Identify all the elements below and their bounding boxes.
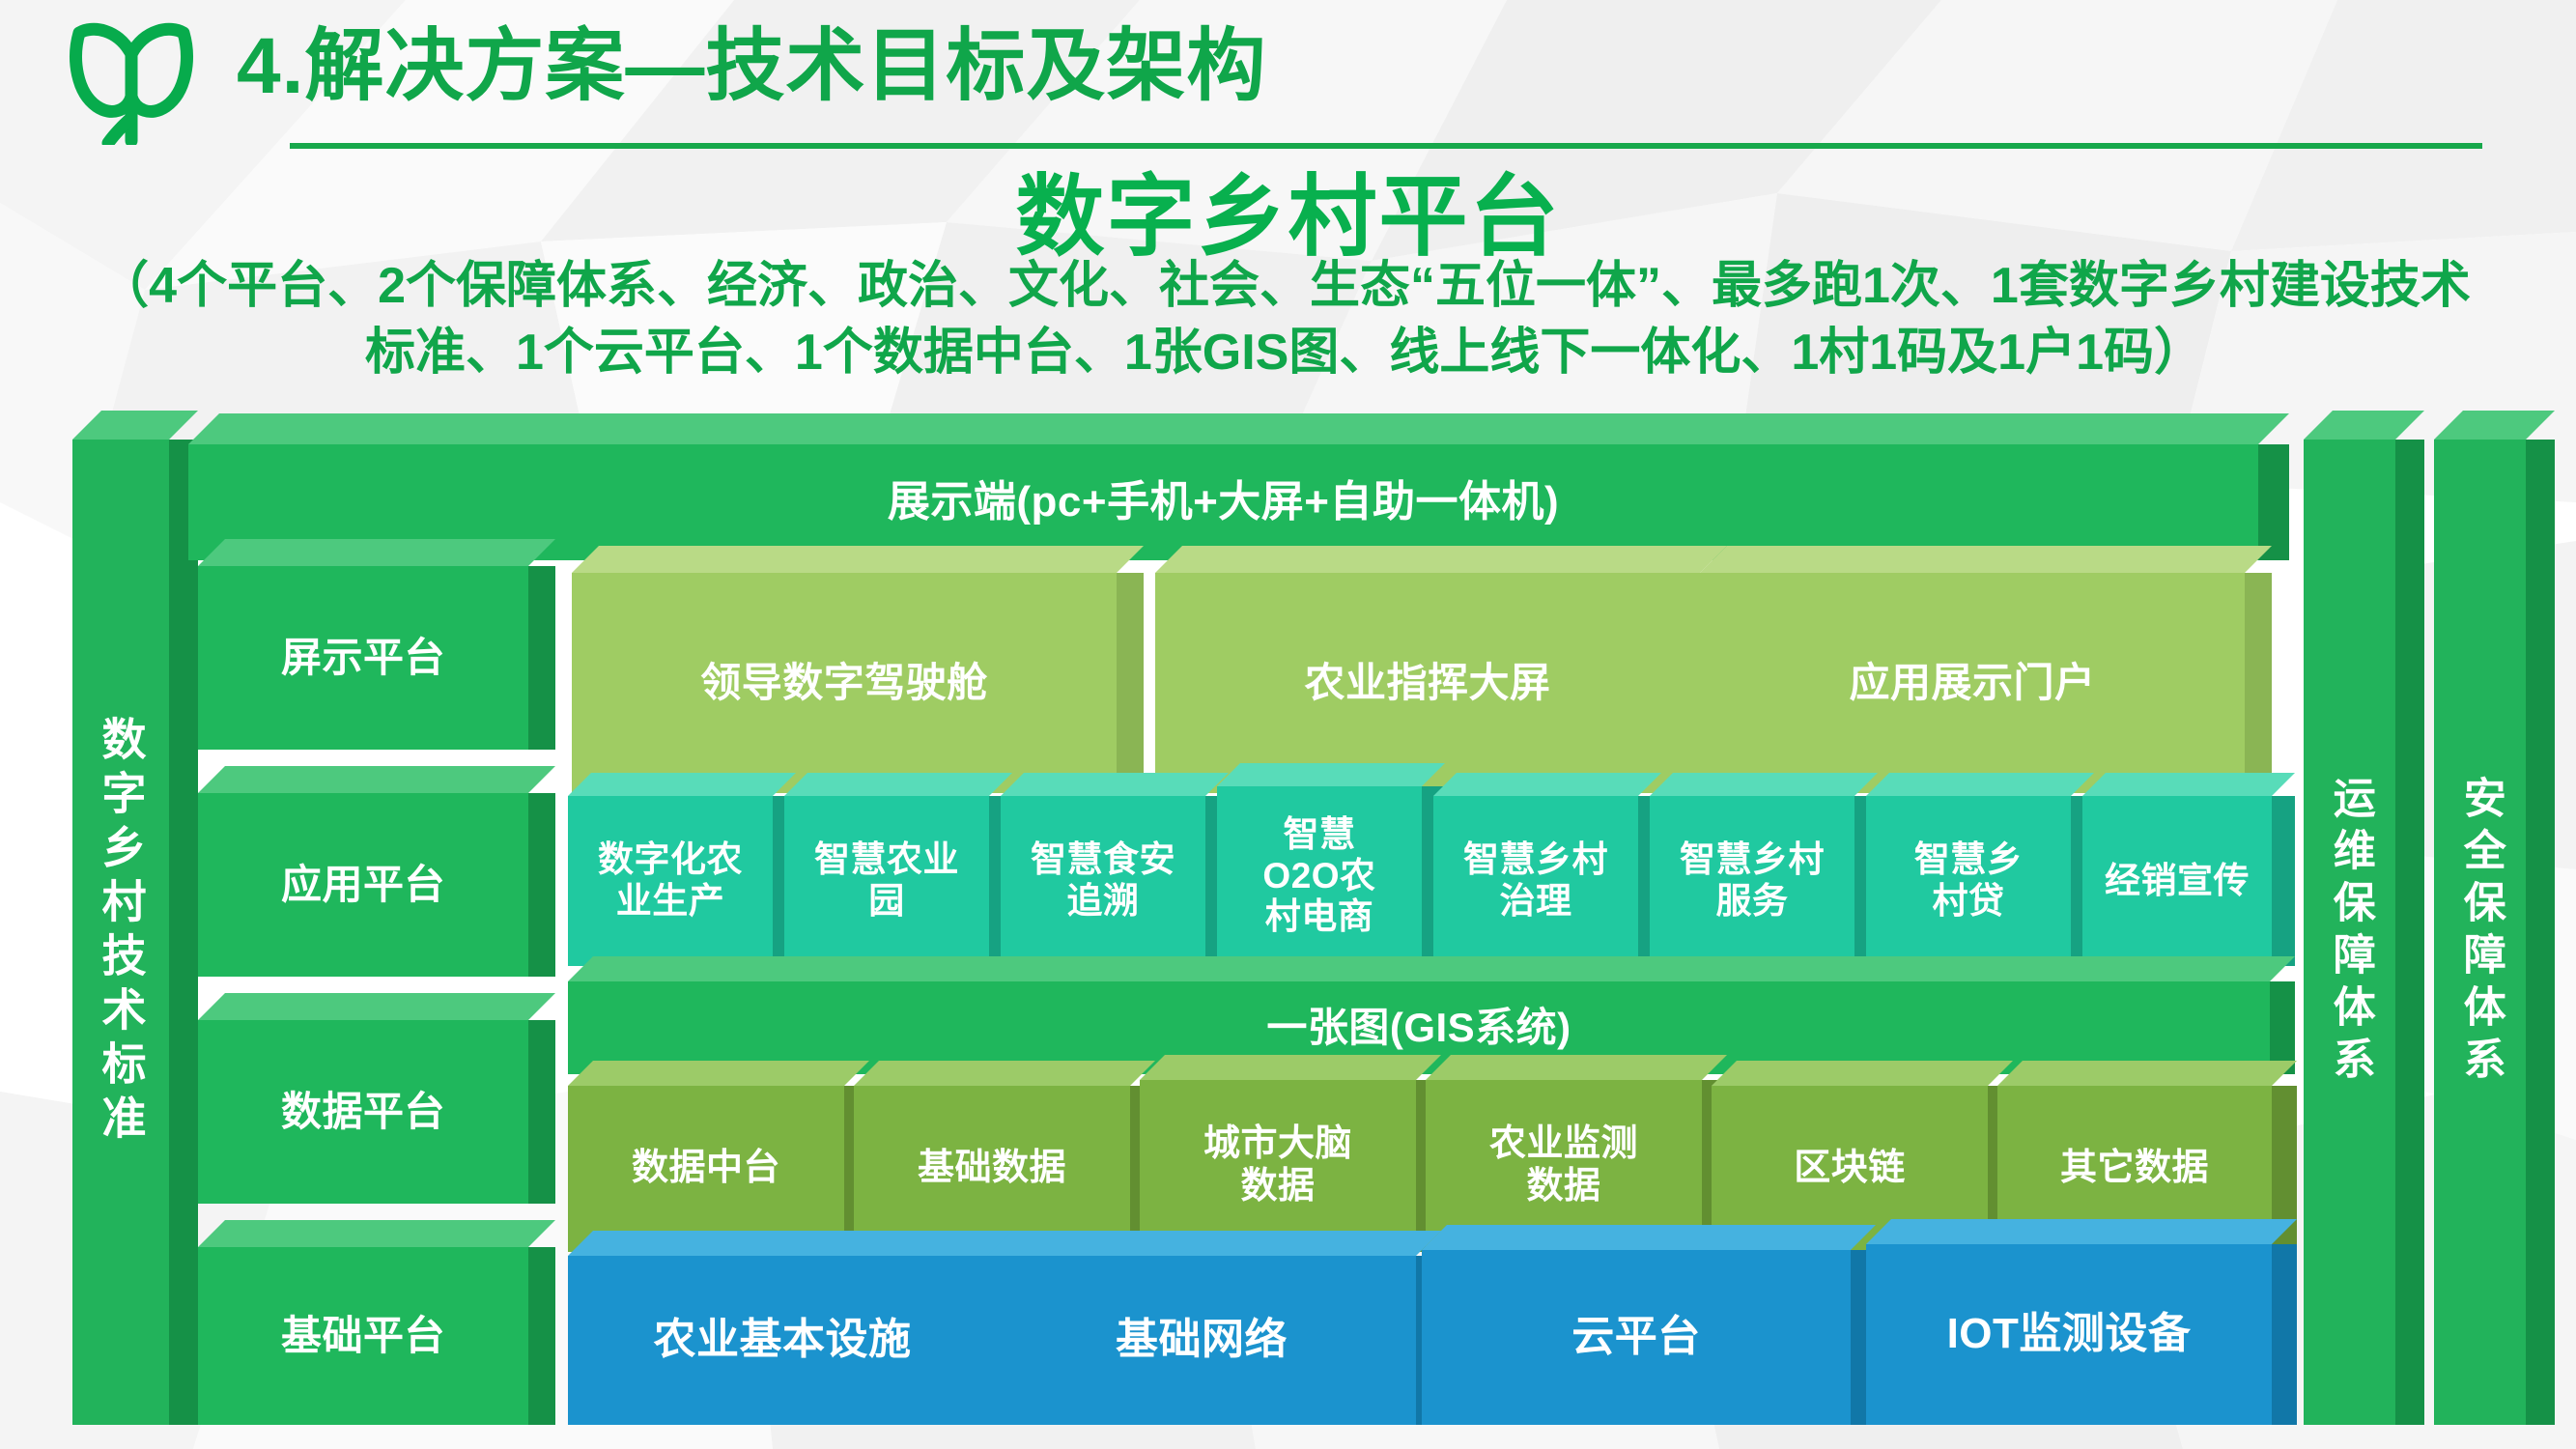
data-box-1[interactable]: 数据中台 — [568, 1086, 844, 1252]
display-box-2-label: 农业指挥大屏 — [1298, 660, 1556, 706]
layer-label-2-top-face — [198, 766, 555, 793]
app-box-6[interactable]: 智慧乡村 服务 — [1650, 796, 1854, 966]
infra-box-2[interactable]: 基础网络 — [987, 1256, 1416, 1425]
gis-band-label: 一张图(GIS系统) — [1260, 1005, 1576, 1051]
display-box-1-side-face — [1117, 573, 1144, 793]
app-box-8-side-face — [2272, 796, 2295, 966]
infra-box-4-label: IOT监测设备 — [1941, 1310, 2197, 1359]
left-pillar-box[interactable]: 数字乡村技术标准 — [72, 440, 169, 1425]
infra-box-2-label: 基础网络 — [1110, 1316, 1293, 1365]
layer-label-1-side-face — [528, 566, 555, 750]
data-box-1-label: 数据中台 — [626, 1148, 786, 1190]
layer-label-4-text: 基础平台 — [275, 1313, 451, 1359]
infra-box-1-label: 农业基本设施 — [648, 1316, 918, 1365]
layer-label-3-text: 数据平台 — [275, 1089, 451, 1135]
slide-header: 4.解决方案—技术目标及架构 — [0, 0, 2576, 155]
layer-label-2-box[interactable]: 应用平台 — [198, 793, 528, 977]
layer-label-1-text: 屏示平台 — [275, 635, 451, 681]
data-box-2-label: 基础数据 — [912, 1148, 1072, 1190]
gis-band-side-face — [2270, 981, 2295, 1074]
app-box-5-label: 智慧乡村 治理 — [1458, 839, 1614, 922]
right-pillar-1-label: 运维保障体系 — [2319, 776, 2380, 1089]
layer-label-4-side-face — [528, 1247, 555, 1425]
infra-box-3[interactable]: 云平台 — [1422, 1250, 1851, 1425]
top-band-side-face — [2258, 444, 2289, 560]
top-band-box[interactable]: 展示端(pc+手机+大屏+自助一体机) — [188, 444, 2258, 560]
top-band-top-face — [188, 413, 2289, 444]
app-box-6-label: 智慧乡村 服务 — [1674, 839, 1830, 922]
app-box-4[interactable]: 智慧 O2O农 村电商 — [1217, 786, 1422, 966]
data-box-6-side-face — [2272, 1086, 2297, 1252]
layer-label-1-box[interactable]: 屏示平台 — [198, 566, 528, 750]
app-box-5[interactable]: 智慧乡村 治理 — [1433, 796, 1638, 966]
layer-label-2-text: 应用平台 — [275, 862, 451, 908]
app-box-7-label: 智慧乡 村贷 — [1909, 839, 2029, 922]
top-band-label: 展示端(pc+手机+大屏+自助一体机) — [882, 478, 1565, 527]
data-box-5[interactable]: 区块链 — [1712, 1086, 1988, 1252]
data-box-4[interactable]: 农业监测 数据 — [1426, 1080, 1702, 1252]
infra-box-4[interactable]: IOT监测设备 — [1866, 1244, 2272, 1425]
display-box-3-label: 应用展示门户 — [1843, 660, 2101, 706]
display-box-2[interactable]: 农业指挥大屏 — [1155, 573, 1700, 793]
display-box-3[interactable]: 应用展示门户 — [1700, 573, 2245, 793]
left-pillar-side-face — [169, 440, 198, 1425]
app-box-3-label: 智慧食安 追溯 — [1025, 839, 1181, 922]
layer-label-3-box[interactable]: 数据平台 — [198, 1020, 528, 1204]
right-pillar-2-side-face — [2526, 440, 2555, 1425]
layer-label-3-top-face — [198, 993, 555, 1020]
data-box-4-label: 农业监测 数据 — [1484, 1123, 1644, 1207]
right-pillar-1-top-face — [2304, 411, 2424, 440]
infra-box-1[interactable]: 农业基本设施 — [568, 1256, 997, 1425]
display-box-1-label: 领导数字驾驶舱 — [694, 660, 994, 706]
infra-box-4-side-face — [2272, 1244, 2297, 1425]
infra-box-3-label: 云平台 — [1566, 1313, 1707, 1362]
right-pillar-1-side-face — [2395, 440, 2424, 1425]
left-pillar-top-face — [72, 411, 198, 440]
data-box-6[interactable]: 其它数据 — [1997, 1086, 2272, 1252]
data-box-6-label: 其它数据 — [2054, 1148, 2215, 1190]
right-pillar-1-box[interactable]: 运维保障体系 — [2304, 440, 2395, 1425]
right-pillar-2-label: 安全保障体系 — [2449, 776, 2510, 1089]
display-box-3-side-face — [2245, 573, 2272, 793]
app-box-2-label: 智慧农业 园 — [808, 839, 965, 922]
app-box-7[interactable]: 智慧乡 村贷 — [1866, 796, 2071, 966]
app-box-3[interactable]: 智慧食安 追溯 — [1001, 796, 1205, 966]
slide-canvas: 4.解决方案—技术目标及架构 数字乡村平台 （4个平台、2个保障体系、经济、政治… — [0, 0, 2576, 1449]
right-pillar-2-top-face — [2434, 411, 2555, 440]
layer-label-2-side-face — [528, 793, 555, 977]
app-box-2[interactable]: 智慧农业 园 — [784, 796, 989, 966]
app-box-8[interactable]: 经销宣传 — [2082, 796, 2272, 966]
layer-label-4-top-face — [198, 1220, 555, 1247]
subtitle-text: （4个平台、2个保障体系、经济、政治、文化、社会、生态“五位一体”、最多跑1次、… — [92, 253, 2477, 385]
display-box-1[interactable]: 领导数字驾驶舱 — [572, 573, 1117, 793]
leaf-icon — [68, 21, 198, 145]
app-box-1[interactable]: 数字化农 业生产 — [568, 796, 773, 966]
right-pillar-2-box[interactable]: 安全保障体系 — [2434, 440, 2526, 1425]
layer-label-3-side-face — [528, 1020, 555, 1204]
app-box-8-label: 经销宣传 — [2099, 861, 2255, 902]
layer-label-4-box[interactable]: 基础平台 — [198, 1247, 528, 1425]
data-box-5-label: 区块链 — [1788, 1148, 1911, 1190]
data-box-3[interactable]: 城市大脑 数据 — [1140, 1080, 1416, 1252]
gis-band-box[interactable]: 一张图(GIS系统) — [568, 981, 2270, 1074]
app-box-1-label: 数字化农 业生产 — [592, 839, 749, 922]
app-box-4-label: 智慧 O2O农 村电商 — [1257, 814, 1381, 938]
left-pillar-label: 数字乡村技术标准 — [90, 716, 153, 1149]
page-title: 4.解决方案—技术目标及架构 — [237, 27, 1266, 106]
data-box-2[interactable]: 基础数据 — [854, 1086, 1130, 1252]
data-box-3-label: 城市大脑 数据 — [1198, 1123, 1358, 1207]
